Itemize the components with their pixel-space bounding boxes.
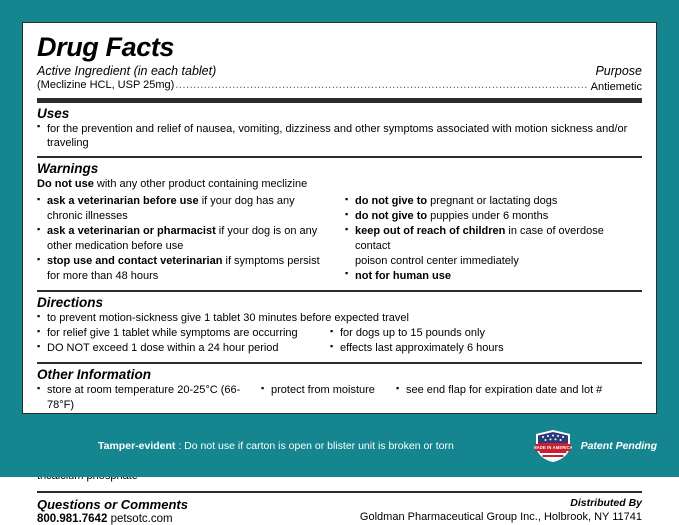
drug-facts-panel: Drug Facts Active Ingredient (in each ta… xyxy=(22,22,657,414)
item-bold: not for human use xyxy=(355,270,451,282)
uses-list: for the prevention and relief of nausea,… xyxy=(37,122,642,151)
item-bold: do not give to xyxy=(355,195,427,207)
active-ingredient-value-row: (Meclizine HCL, USP 25mg) ..............… xyxy=(37,78,642,93)
list-item: DO NOT exceed 1 dose within a 24 hour pe… xyxy=(37,341,330,356)
directions-right-column: for dogs up to 15 pounds only effects la… xyxy=(330,326,642,356)
directions-right-list: for dogs up to 15 pounds only effects la… xyxy=(330,326,642,356)
list-item-continuation: for more than 48 hours xyxy=(37,269,337,284)
list-item-continuation: chronic illnesses xyxy=(37,209,337,224)
directions-columns: for relief give 1 tablet while symptoms … xyxy=(37,326,642,356)
do-not-use-rest: with any other product containing mecliz… xyxy=(94,178,307,190)
warnings-do-not-use: Do not use with any other product contai… xyxy=(37,177,642,192)
page-title: Drug Facts xyxy=(37,32,642,63)
tamper-evident-text: Tamper-evident : Do not use if carton is… xyxy=(98,440,454,452)
active-ingredient-heading-row: Active Ingredient (in each tablet) Purpo… xyxy=(37,64,642,78)
list-item: see end flap for expiration date and lot… xyxy=(396,383,642,398)
active-ingredient-value: (Meclizine HCL, USP 25mg) xyxy=(37,78,174,93)
list-item: do not give to pregnant or lactating dog… xyxy=(345,194,642,209)
distributed-by-label: Distributed By xyxy=(360,497,642,509)
do-not-use-bold: Do not use xyxy=(37,178,94,190)
patent-pending-text: Patent Pending xyxy=(581,440,657,452)
other-info-list-3: see end flap for expiration date and lot… xyxy=(396,383,642,398)
questions-contact: 800.981.7642 petsotc.com xyxy=(37,513,188,525)
list-item-continuation: other medication before use xyxy=(37,239,337,254)
directions-primary-list: to prevent motion-sickness give 1 tablet… xyxy=(37,311,642,326)
questions-left: Questions or Comments 800.981.7642 petso… xyxy=(37,497,188,525)
tamper-evident-bold: Tamper-evident xyxy=(98,440,175,452)
other-info-list-1: store at room temperature 20-25°C (66-78… xyxy=(37,383,261,412)
active-ingredient-label: Active Ingredient (in each tablet) xyxy=(37,64,216,78)
list-item: protect from moisture xyxy=(261,383,396,398)
leader-dots: ........................................… xyxy=(175,79,587,91)
purpose-value: Antiemetic xyxy=(591,81,642,93)
item-rest: pregnant or lactating dogs xyxy=(427,195,557,207)
list-item: ask a veterinarian before use if your do… xyxy=(37,194,337,209)
list-item: for the prevention and relief of nausea,… xyxy=(37,122,642,151)
badge-area: MADE IN AMERICA Patent Pending xyxy=(534,429,657,463)
list-item: stop use and contact veterinarian if sym… xyxy=(37,254,337,269)
divider-warnings xyxy=(37,156,642,158)
item-rest: if your dog has any xyxy=(199,195,295,207)
made-in-america-badge-text: MADE IN AMERICA xyxy=(534,445,572,450)
list-item: effects last approximately 6 hours xyxy=(330,341,642,356)
distributor-name: Goldman Pharmaceutical Group Inc., Holbr… xyxy=(360,511,642,523)
divider-uses xyxy=(37,98,642,103)
section-questions: Questions or Comments 800.981.7642 petso… xyxy=(37,497,642,525)
list-item: ask a veterinarian or pharmacist if your… xyxy=(37,224,337,239)
divider-questions xyxy=(37,491,642,493)
other-information-heading: Other Information xyxy=(37,367,642,382)
tamper-evident-rest: : Do not use if carton is open or bliste… xyxy=(175,440,453,452)
list-item: for relief give 1 tablet while symptoms … xyxy=(37,326,330,341)
item-rest: if your dog is on any xyxy=(216,225,318,237)
item-bold: keep out of reach of children xyxy=(355,225,505,237)
item-rest: if symptoms persist xyxy=(222,255,319,267)
list-item: store at room temperature 20-25°C (66-78… xyxy=(37,383,261,412)
item-bold: ask a veterinarian before use xyxy=(47,195,199,207)
item-rest: puppies under 6 months xyxy=(427,210,548,222)
warnings-right-column: do not give to pregnant or lactating dog… xyxy=(337,194,642,284)
directions-heading: Directions xyxy=(37,295,642,310)
purpose-label: Purpose xyxy=(595,64,642,78)
warnings-heading: Warnings xyxy=(37,161,642,176)
divider-directions xyxy=(37,290,642,292)
section-uses: Uses for the prevention and relief of na… xyxy=(37,106,642,151)
item-bold: stop use and contact veterinarian xyxy=(47,255,222,267)
warnings-left-column: ask a veterinarian before use if your do… xyxy=(37,194,337,284)
other-info-list-2: protect from moisture xyxy=(261,383,396,398)
directions-left-column: for relief give 1 tablet while symptoms … xyxy=(37,326,330,356)
section-directions: Directions to prevent motion-sickness gi… xyxy=(37,295,642,356)
drug-facts-header: Drug Facts Active Ingredient (in each ta… xyxy=(37,32,642,93)
section-other-information: Other Information store at room temperat… xyxy=(37,367,642,413)
list-item-continuation: poison control center immediately xyxy=(345,254,642,269)
other-info-column-1: store at room temperature 20-25°C (66-78… xyxy=(37,383,261,413)
website-link[interactable]: petsotc.com xyxy=(111,513,173,525)
list-item: keep out of reach of children in case of… xyxy=(345,224,642,253)
list-item: for dogs up to 15 pounds only xyxy=(330,326,642,341)
other-info-column-3: see end flap for expiration date and lot… xyxy=(396,383,642,413)
carton-package: Drug Facts Active Ingredient (in each ta… xyxy=(0,0,679,477)
list-item: to prevent motion-sickness give 1 tablet… xyxy=(37,311,642,326)
list-item: do not give to puppies under 6 months xyxy=(345,209,642,224)
divider-other-information xyxy=(37,362,642,364)
item-bold: do not give to xyxy=(355,210,427,222)
other-info-column-2: protect from moisture xyxy=(261,383,396,413)
warnings-right-list: do not give to pregnant or lactating dog… xyxy=(345,194,642,283)
questions-right: Distributed By Goldman Pharmaceutical Gr… xyxy=(360,497,642,523)
section-warnings: Warnings Do not use with any other produ… xyxy=(37,161,642,285)
warnings-columns: ask a veterinarian before use if your do… xyxy=(37,194,642,284)
tamper-evident-strip: Tamper-evident : Do not use if carton is… xyxy=(0,414,679,477)
item-bold: ask a veterinarian or pharmacist xyxy=(47,225,216,237)
warnings-left-list: ask a veterinarian before use if your do… xyxy=(37,194,337,284)
list-item: not for human use xyxy=(345,269,642,284)
other-information-columns: store at room temperature 20-25°C (66-78… xyxy=(37,383,642,413)
uses-heading: Uses xyxy=(37,106,642,121)
phone-number[interactable]: 800.981.7642 xyxy=(37,513,107,525)
directions-left-list: for relief give 1 tablet while symptoms … xyxy=(37,326,330,356)
made-in-america-icon: MADE IN AMERICA xyxy=(534,429,572,463)
questions-heading: Questions or Comments xyxy=(37,497,188,512)
